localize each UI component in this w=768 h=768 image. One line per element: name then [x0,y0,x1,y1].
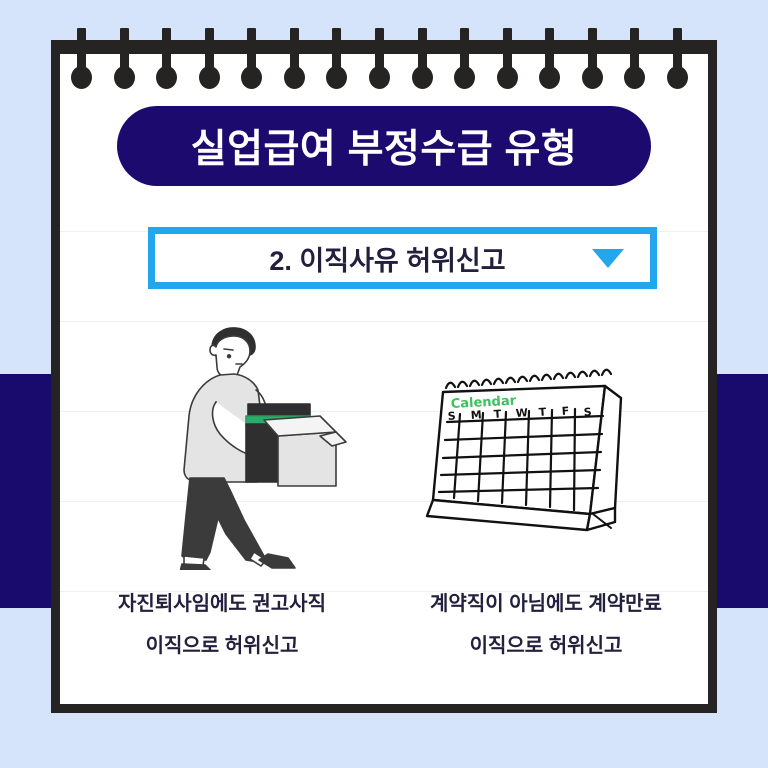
weekday-t1: T [493,407,502,421]
chevron-down-icon[interactable] [592,249,624,268]
illustration-row: Calendar S M T W T F S [60,320,708,590]
desk-calendar-illustration: Calendar S M T W T F S [415,358,635,538]
caption-left-line2: 이직으로 허위신고 [60,636,384,656]
weekday-w: W [515,406,528,420]
page-title-pill: 실업급여 부정수급 유형 [117,106,651,186]
weekday-t2: T [538,405,547,419]
weekday-m: M [470,408,482,422]
page-title: 실업급여 부정수급 유형 [191,118,577,174]
caption-right-line2: 이직으로 허위신고 [384,636,708,656]
person-carrying-box-illustration [160,320,350,575]
caption-left-line1: 자진퇴사임에도 권고사직 [60,594,384,614]
card-canvas: 실업급여 부정수급 유형 2. 이직사유 허위신고 [0,0,768,768]
subtitle-dropdown[interactable]: 2. 이직사유 허위신고 [148,227,657,289]
subtitle-label: 2. 이직사유 허위신고 [155,239,592,278]
caption-left: 자진퇴사임에도 권고사직 이직으로 허위신고 [60,594,384,656]
weekday-s2: S [583,405,592,419]
weekday-f: F [561,405,569,418]
weekday-s1: S [447,409,456,423]
caption-row: 자진퇴사임에도 권고사직 이직으로 허위신고 계약직이 아님에도 계약만료 이직… [60,594,708,656]
caption-right-line1: 계약직이 아님에도 계약만료 [384,594,708,614]
caption-right: 계약직이 아님에도 계약만료 이직으로 허위신고 [384,594,708,656]
